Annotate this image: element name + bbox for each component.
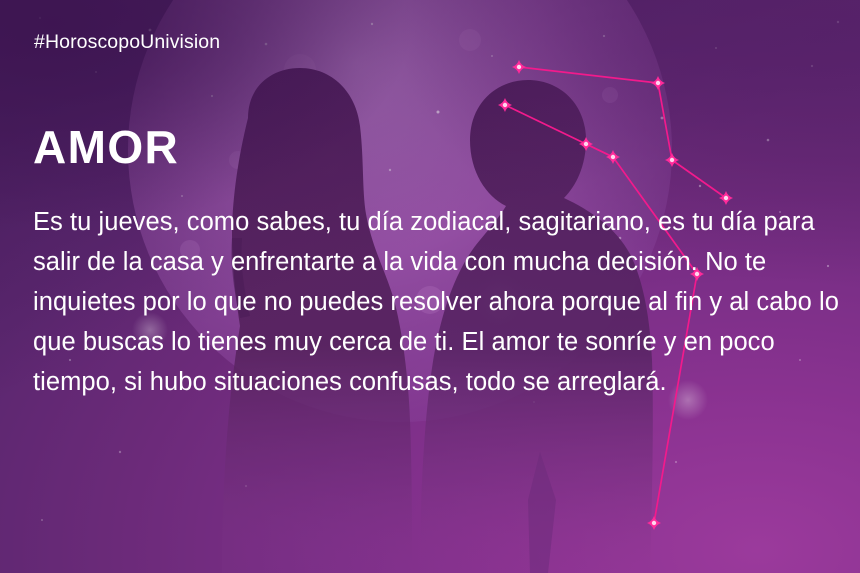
horoscope-body-text: Es tu jueves, como sabes, tu día zodiaca… [33,202,841,402]
hashtag-label: #HoroscopoUnivision [34,31,220,54]
horoscope-card: #HoroscopoUnivision AMOR Es tu jueves, c… [0,0,860,573]
page-title: AMOR [33,124,179,170]
